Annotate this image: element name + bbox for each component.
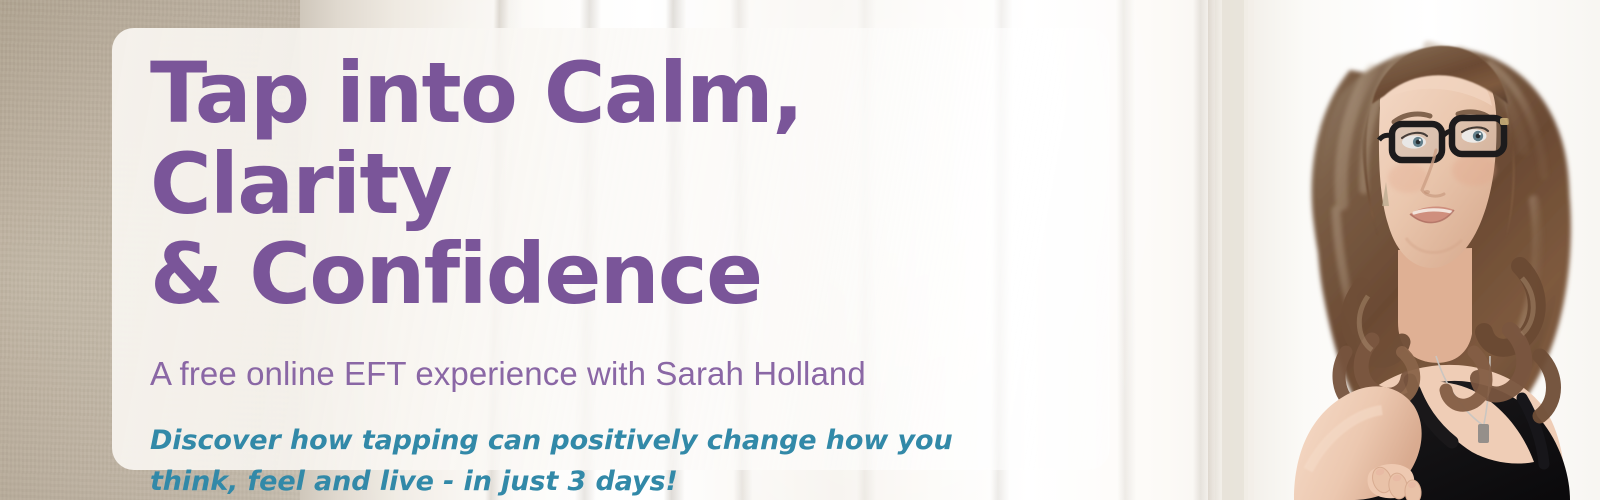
text-card-content: Tap into Calm, Clarity & Confidence A fr…: [150, 48, 1086, 500]
page-title: Tap into Calm, Clarity & Confidence: [150, 48, 1086, 320]
promo-banner: Tap into Calm, Clarity & Confidence A fr…: [0, 0, 1600, 500]
text-card: Tap into Calm, Clarity & Confidence A fr…: [112, 28, 1110, 470]
portrait-photo: [1222, 0, 1600, 500]
kicker-text: Discover how tapping can positively chan…: [150, 394, 1030, 500]
subtitle: A free online EFT experience with Sarah …: [150, 320, 1086, 394]
